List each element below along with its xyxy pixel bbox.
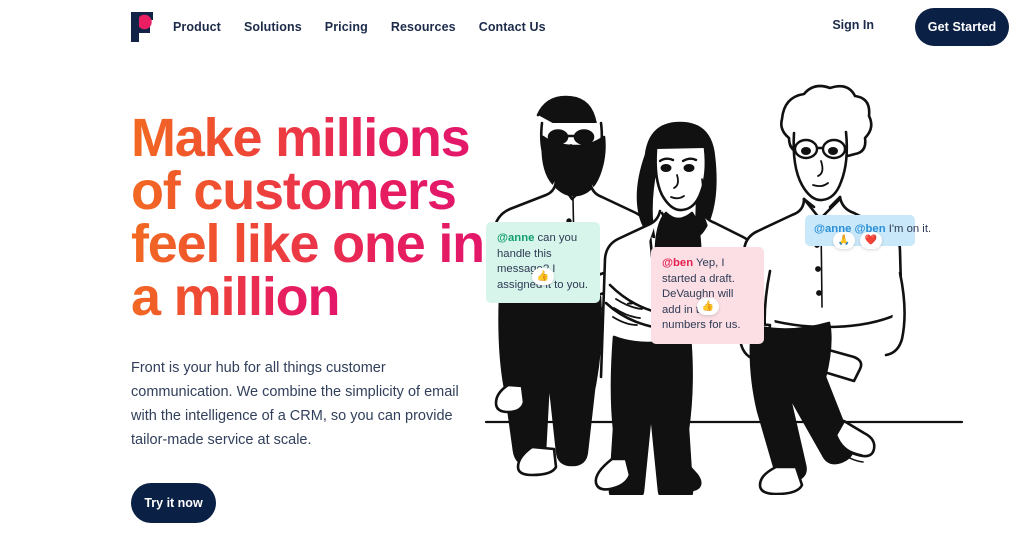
mention-anne: @anne	[497, 232, 534, 244]
thumbs-up-icon[interactable]: 👍	[532, 268, 554, 285]
nav-link-pricing[interactable]: Pricing	[325, 20, 368, 34]
headline-line-3: feel like one in	[131, 218, 484, 271]
try-it-now-button[interactable]: Try it now	[131, 483, 216, 523]
praying-hands-icon[interactable]: 🙏	[833, 232, 855, 249]
reactions-ben: 👍	[697, 298, 719, 315]
headline-line-4: a million	[131, 271, 339, 324]
top-navigation-bar: Product Solutions Pricing Resources Cont…	[0, 0, 1024, 54]
page-title: Make millions of customers feel like one…	[131, 112, 481, 324]
hero-text-column: Make millions of customers feel like one…	[131, 112, 481, 523]
nav-link-product[interactable]: Product	[173, 20, 221, 34]
headline-line-1: Make millions	[131, 112, 470, 165]
bubble-text-anne-ben: I'm on it.	[886, 223, 931, 235]
landing-page: Product Solutions Pricing Resources Cont…	[0, 0, 1024, 556]
nav-links: Product Solutions Pricing Resources Cont…	[173, 0, 546, 54]
get-started-button[interactable]: Get Started	[915, 8, 1009, 46]
sign-in-link[interactable]: Sign In	[832, 18, 874, 32]
reactions-anne: 👍	[532, 268, 554, 285]
chat-bubble-ben[interactable]: @ben Yep, I started a draft. DeVaughn wi…	[651, 247, 764, 344]
mention-ben: @ben	[662, 257, 693, 269]
nav-link-solutions[interactable]: Solutions	[244, 20, 302, 34]
heart-icon[interactable]: ❤️	[860, 232, 882, 249]
nav-link-resources[interactable]: Resources	[391, 20, 456, 34]
thumbs-up-icon[interactable]: 👍	[697, 298, 719, 315]
front-logo-icon[interactable]	[129, 11, 155, 43]
nav-link-contact-us[interactable]: Contact Us	[479, 20, 546, 34]
chat-bubble-anne[interactable]: @anne can you handle this message? I ass…	[486, 222, 600, 303]
hero-subcopy: Front is your hub for all things custome…	[131, 356, 467, 452]
headline-line-2: of customers	[131, 165, 456, 218]
reactions-anne-ben: 🙏 ❤️	[833, 232, 882, 249]
